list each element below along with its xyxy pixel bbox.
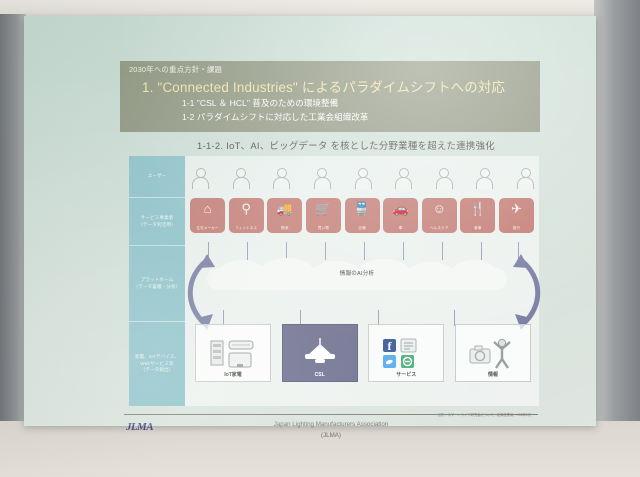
service-tile-healthcare[interactable]: ☺ ヘルスケア	[422, 198, 457, 233]
pendant-lamp-icon	[298, 338, 342, 368]
rail-label-devices: 家電、IoTデバイス、Webサービス等（データ創出）	[129, 322, 185, 406]
diagram-stage: ⌂ 住宅メーカー ⚲ フィットネス 🚚 物流 🛒	[185, 156, 539, 406]
slide-header-band: 2030年への重点方針・課題 1. "Connected Industries"…	[120, 61, 540, 132]
user-row	[191, 160, 533, 196]
user-person-3	[272, 167, 289, 189]
truck-icon: 🚚	[277, 202, 293, 216]
slide-content: 2030年への重点方針・課題 1. "Connected Industries"…	[84, 40, 554, 440]
train-icon: 🚆	[354, 202, 370, 216]
user-person-8	[475, 167, 492, 189]
slide-subtitle: 1-1-2. IoT、AI、ビッグデータ を核とした分野業種を超えた連携強化	[136, 138, 556, 152]
service-tile-label: 物流	[267, 226, 302, 231]
service-tile-logistics[interactable]: 🚚 物流	[267, 198, 302, 233]
header-title: 1. "Connected Industries" によるパラダイムシフトへの対…	[142, 76, 505, 96]
service-tile-label: フィットネス	[229, 226, 264, 231]
rail-label-users: ユーザー	[129, 156, 185, 198]
service-tile-label: 住宅メーカー	[190, 226, 225, 231]
health-icon: ☺	[433, 202, 446, 216]
user-person-2	[232, 167, 249, 189]
service-tile-label: 旅行	[499, 226, 534, 231]
service-tile-label: ヘルスケア	[422, 226, 457, 231]
service-tile-label: 食事	[460, 226, 495, 231]
projector-photo: 2030年への重点方針・課題 1. "Connected Industries"…	[0, 0, 640, 477]
footer-text: Japan Lighting Manufacturers Association…	[124, 420, 538, 441]
device-box-information[interactable]: 情報	[455, 324, 531, 382]
footer-line-2: (JLMA)	[124, 431, 538, 442]
service-tile-fitness[interactable]: ⚲ フィットネス	[229, 198, 264, 233]
cart-icon: 🛒	[315, 202, 331, 216]
rail-label-service-providers: サービス事業者（データ利活用）	[129, 198, 185, 246]
device-box-label: 情報	[456, 371, 530, 378]
device-box-row: IoT家電 CSL	[195, 324, 531, 386]
restaurant-icon: 🍴	[470, 202, 486, 216]
user-person-4	[313, 167, 330, 189]
iot-appliance-icon	[209, 338, 257, 368]
fitness-icon: ⚲	[241, 202, 251, 216]
service-tile-shopping[interactable]: 🛒 買い物	[306, 198, 341, 233]
footer-line-1: Japan Lighting Manufacturers Association	[124, 420, 538, 431]
service-tile-car[interactable]: 🚗 車	[383, 198, 418, 233]
feedback-arrow-left	[179, 252, 219, 332]
user-person-9	[516, 167, 533, 189]
rail-label-platform: プラットホーム（データ蓄積・分析）	[129, 246, 185, 322]
service-tile-label: 買い物	[306, 226, 341, 231]
header-kicker: 2030年への重点方針・課題	[129, 64, 222, 75]
map-icon: ✈	[511, 202, 522, 216]
device-box-iot-appliance[interactable]: IoT家電	[195, 324, 271, 382]
service-tile-dining[interactable]: 🍴 食事	[460, 198, 495, 233]
header-subitem-1: 1-1 "CSL ＆ HCL" 普及のための環境整備	[182, 97, 338, 109]
user-person-6	[394, 167, 411, 189]
projection-screen: 2030年への重点方針・課題 1. "Connected Industries"…	[24, 16, 596, 426]
user-person-5	[354, 167, 371, 189]
service-tile-row: ⌂ 住宅メーカー ⚲ フィットネス 🚚 物流 🛒	[190, 198, 534, 238]
device-box-label: サービス	[369, 371, 443, 378]
diagram-panel: ユーザー サービス事業者（データ利活用） プラットホーム（データ蓄積・分析） 家…	[129, 156, 539, 406]
cloud-label: 情報のAI分析	[207, 269, 507, 277]
service-tile-travel[interactable]: ✈ 旅行	[499, 198, 534, 233]
service-tile-label: 車	[383, 226, 418, 231]
header-subitem-2: 1-2 パラダイムシフトに対応した工業会組織改革	[182, 111, 369, 123]
user-person-1	[191, 167, 208, 189]
social-service-icon: f	[381, 337, 431, 369]
user-person-7	[435, 167, 452, 189]
connector-stems-upper	[190, 240, 534, 262]
service-tile-house[interactable]: ⌂ 住宅メーカー	[190, 198, 225, 233]
footer-divider	[124, 414, 538, 415]
cloud-shape-upper	[207, 260, 507, 294]
wall-left-edge	[0, 14, 26, 477]
device-box-csl[interactable]: CSL	[282, 324, 358, 382]
device-box-label: IoT家電	[196, 371, 270, 378]
service-tile-transport[interactable]: 🚆 交通	[345, 198, 380, 233]
device-box-service[interactable]: f サービス	[368, 324, 444, 382]
car-icon: 🚗	[393, 202, 409, 216]
device-box-label: CSL	[283, 372, 357, 378]
service-tile-label: 交通	[345, 226, 380, 231]
feedback-arrow-right	[509, 252, 549, 332]
wall-right-edge	[594, 0, 640, 477]
camera-person-icon	[468, 337, 518, 369]
house-icon: ⌂	[204, 202, 212, 216]
